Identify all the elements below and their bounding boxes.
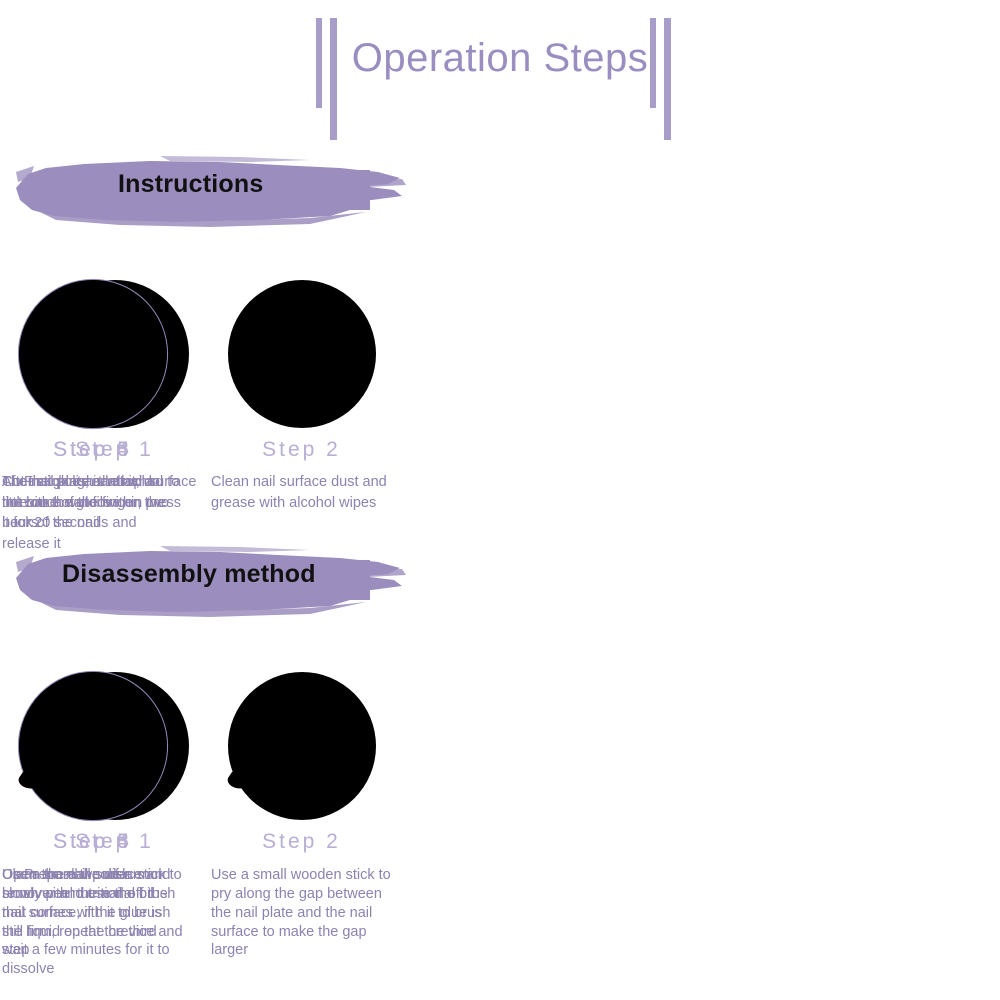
clean-and-brush-oil-icon <box>15 668 171 824</box>
section-banner-label: Disassembly method <box>62 560 316 589</box>
step-label: Step 2 <box>209 830 394 854</box>
section-banner-disassembly: Disassembly method <box>10 542 410 624</box>
step-description: Clean nail surface dust and grease with … <box>209 472 394 513</box>
step-card-disassembly-2: Step 2 Use a small wooden stick to pry a… <box>209 668 394 960</box>
step-description: Clean the nail surface and brush with nu… <box>0 866 185 904</box>
step-card-instructions-5: Step 5 After sticking, sand it, do not t… <box>0 276 185 534</box>
hand-with-alcohol-wipe-icon <box>224 276 380 432</box>
step-description: Use a small wooden stick to pry along th… <box>209 866 394 960</box>
step-card-disassembly-5: Step 5 Clean the nail surface and brush … <box>0 668 185 904</box>
section-banner-instructions: Instructions <box>10 152 410 234</box>
step-label: Step 5 <box>0 830 185 854</box>
step-label: Step 5 <box>0 438 185 462</box>
page-title: Operation Steps <box>0 36 1000 81</box>
page-title-block: Operation Steps <box>0 0 1000 140</box>
step-description: After sticking, sand it, do not touch wa… <box>0 472 185 534</box>
step-card-instructions-2: Step 2 Clean nail surface dust and greas… <box>209 276 394 513</box>
pry-with-wooden-stick-icon <box>224 668 380 824</box>
section-banner-label: Instructions <box>118 170 263 199</box>
step-label: Step 2 <box>209 438 394 462</box>
sand-nail-with-file-icon <box>15 276 171 432</box>
